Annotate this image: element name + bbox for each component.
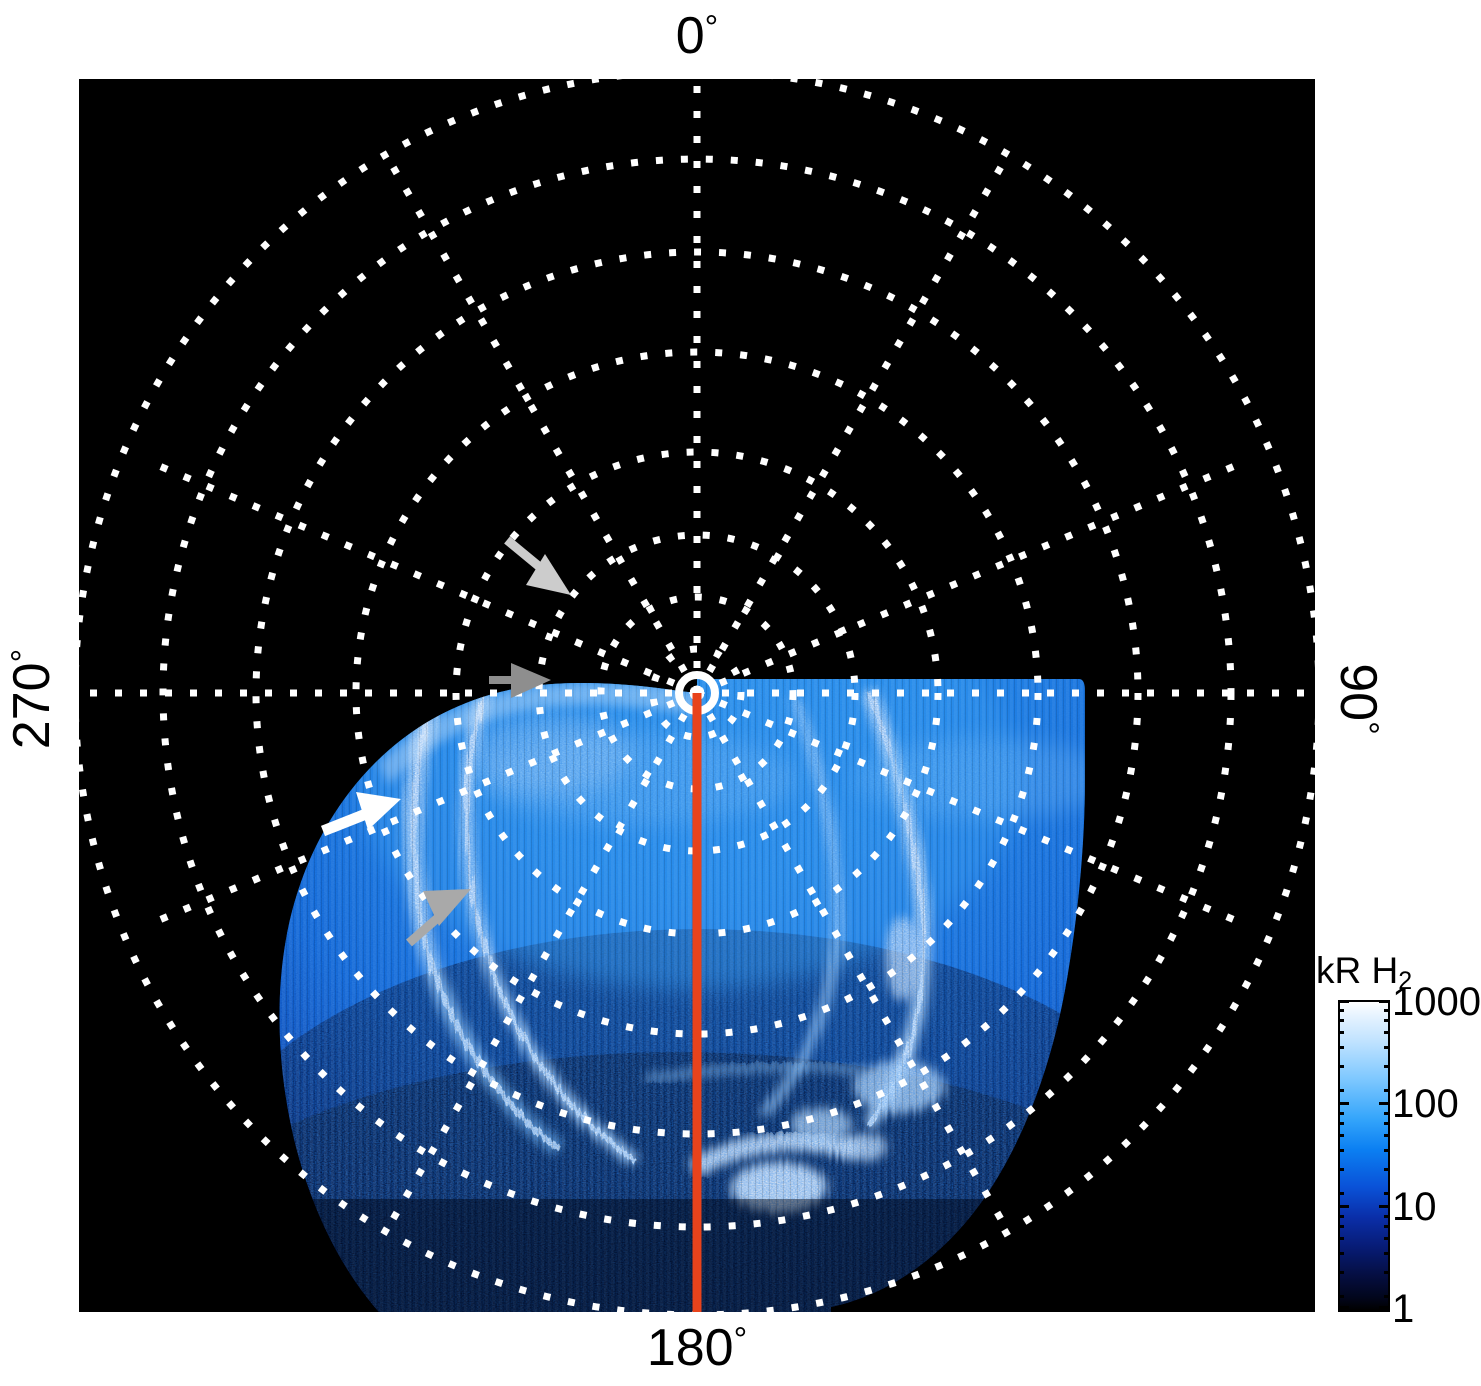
angle-label-180: 180° <box>0 1322 1394 1374</box>
colorbar-tick-labels: 1000 100 10 1 <box>1392 1000 1481 1312</box>
colorbar-label-10: 10 <box>1392 1187 1437 1227</box>
angle-label-0: 0° <box>0 10 1394 62</box>
colorbar: kR H2 <box>1316 950 1481 1330</box>
colorbar-label-1: 1 <box>1392 1289 1414 1329</box>
colorbar-gradient <box>1338 1000 1390 1312</box>
angle-label-90: 90° <box>1332 619 1384 779</box>
polar-grid <box>79 79 1315 1312</box>
colorbar-label-1000: 1000 <box>1392 982 1481 1022</box>
colorbar-label-100: 100 <box>1392 1084 1459 1124</box>
polar-plot-area <box>79 79 1315 1312</box>
figure-root: 0° 180° 270° 90° <box>0 0 1481 1386</box>
angle-label-270: 270° <box>6 619 58 779</box>
